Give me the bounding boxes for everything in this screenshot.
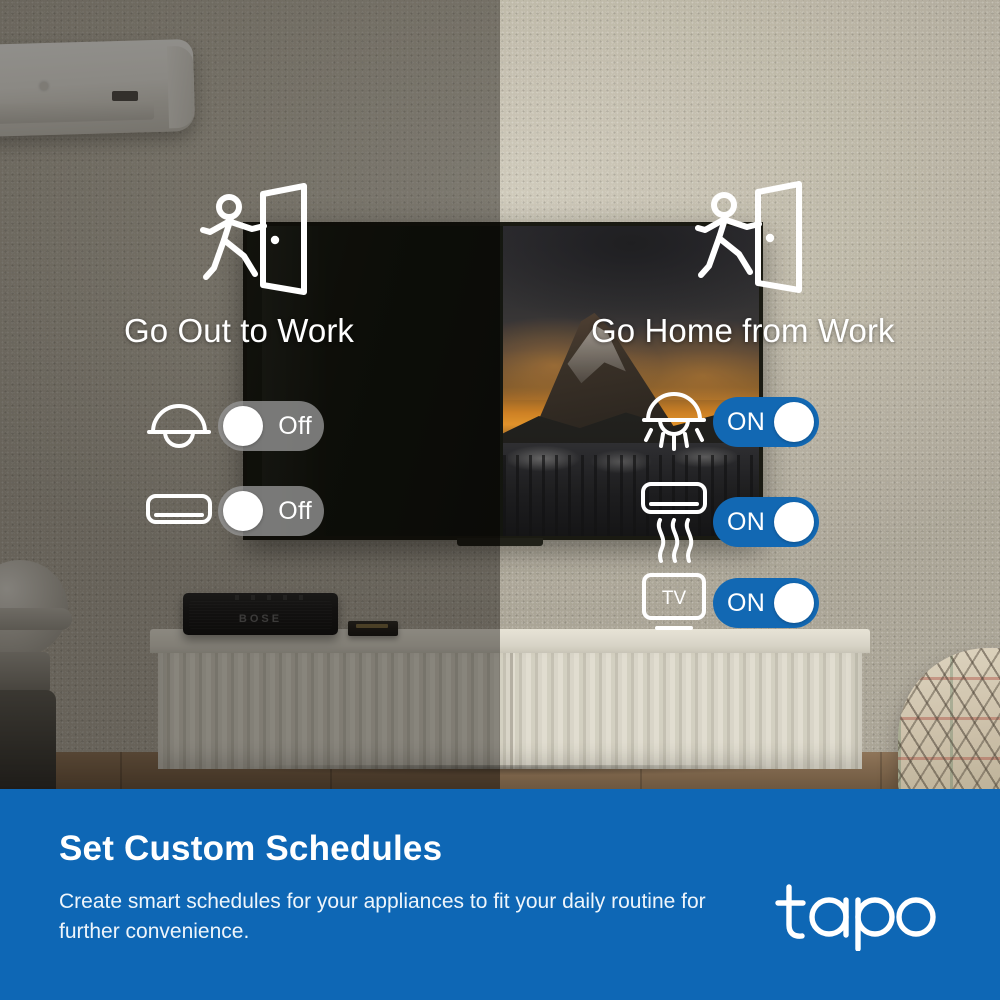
toggle-knob	[774, 502, 814, 542]
bottom-banner: Set Custom Schedules Create smart schedu…	[0, 789, 1000, 1000]
toggle-television[interactable]: ON	[713, 578, 819, 628]
toggle-knob	[223, 406, 263, 446]
toggle-label: Off	[278, 414, 312, 439]
tv-icon: TV	[635, 570, 713, 636]
toggle-label: ON	[727, 410, 765, 435]
device-row-lamp-off: Off	[140, 398, 324, 454]
scene-panel-go-out: Go Out to Work Off	[0, 0, 500, 800]
toggle-lamp[interactable]: Off	[218, 401, 324, 451]
air-conditioner-on-icon	[635, 478, 713, 566]
exit-door-icon	[200, 182, 320, 305]
promo-image: BOSE	[0, 0, 1000, 1000]
toggle-knob	[774, 402, 814, 442]
toggle-lamp[interactable]: ON	[713, 397, 819, 447]
toggle-label: ON	[727, 591, 765, 616]
air-conditioner-off-icon	[140, 488, 218, 534]
device-row-ac-off: Off	[140, 486, 324, 536]
toggle-knob	[223, 491, 263, 531]
toggle-label: ON	[727, 510, 765, 535]
banner-subtitle: Create smart schedules for your applianc…	[59, 887, 739, 948]
banner-title: Set Custom Schedules	[59, 829, 442, 869]
device-row-lamp-on: ON	[635, 386, 819, 458]
scene-title-go-out: Go Out to Work	[124, 312, 354, 350]
device-row-ac-on: ON	[635, 478, 819, 566]
toggle-label: Off	[278, 499, 312, 524]
tapo-logo	[775, 881, 945, 951]
toggle-knob	[774, 583, 814, 623]
device-row-tv-on: TV ON	[635, 570, 819, 636]
scene-panel-go-home: Go Home from Work ON	[500, 0, 1000, 800]
svg-text:TV: TV	[662, 588, 687, 609]
lamp-off-icon	[140, 398, 218, 454]
lamp-on-icon	[635, 386, 713, 458]
enter-door-icon	[695, 180, 815, 303]
scene-title-go-home: Go Home from Work	[591, 312, 895, 350]
toggle-air-conditioner[interactable]: Off	[218, 486, 324, 536]
toggle-air-conditioner[interactable]: ON	[713, 497, 819, 547]
